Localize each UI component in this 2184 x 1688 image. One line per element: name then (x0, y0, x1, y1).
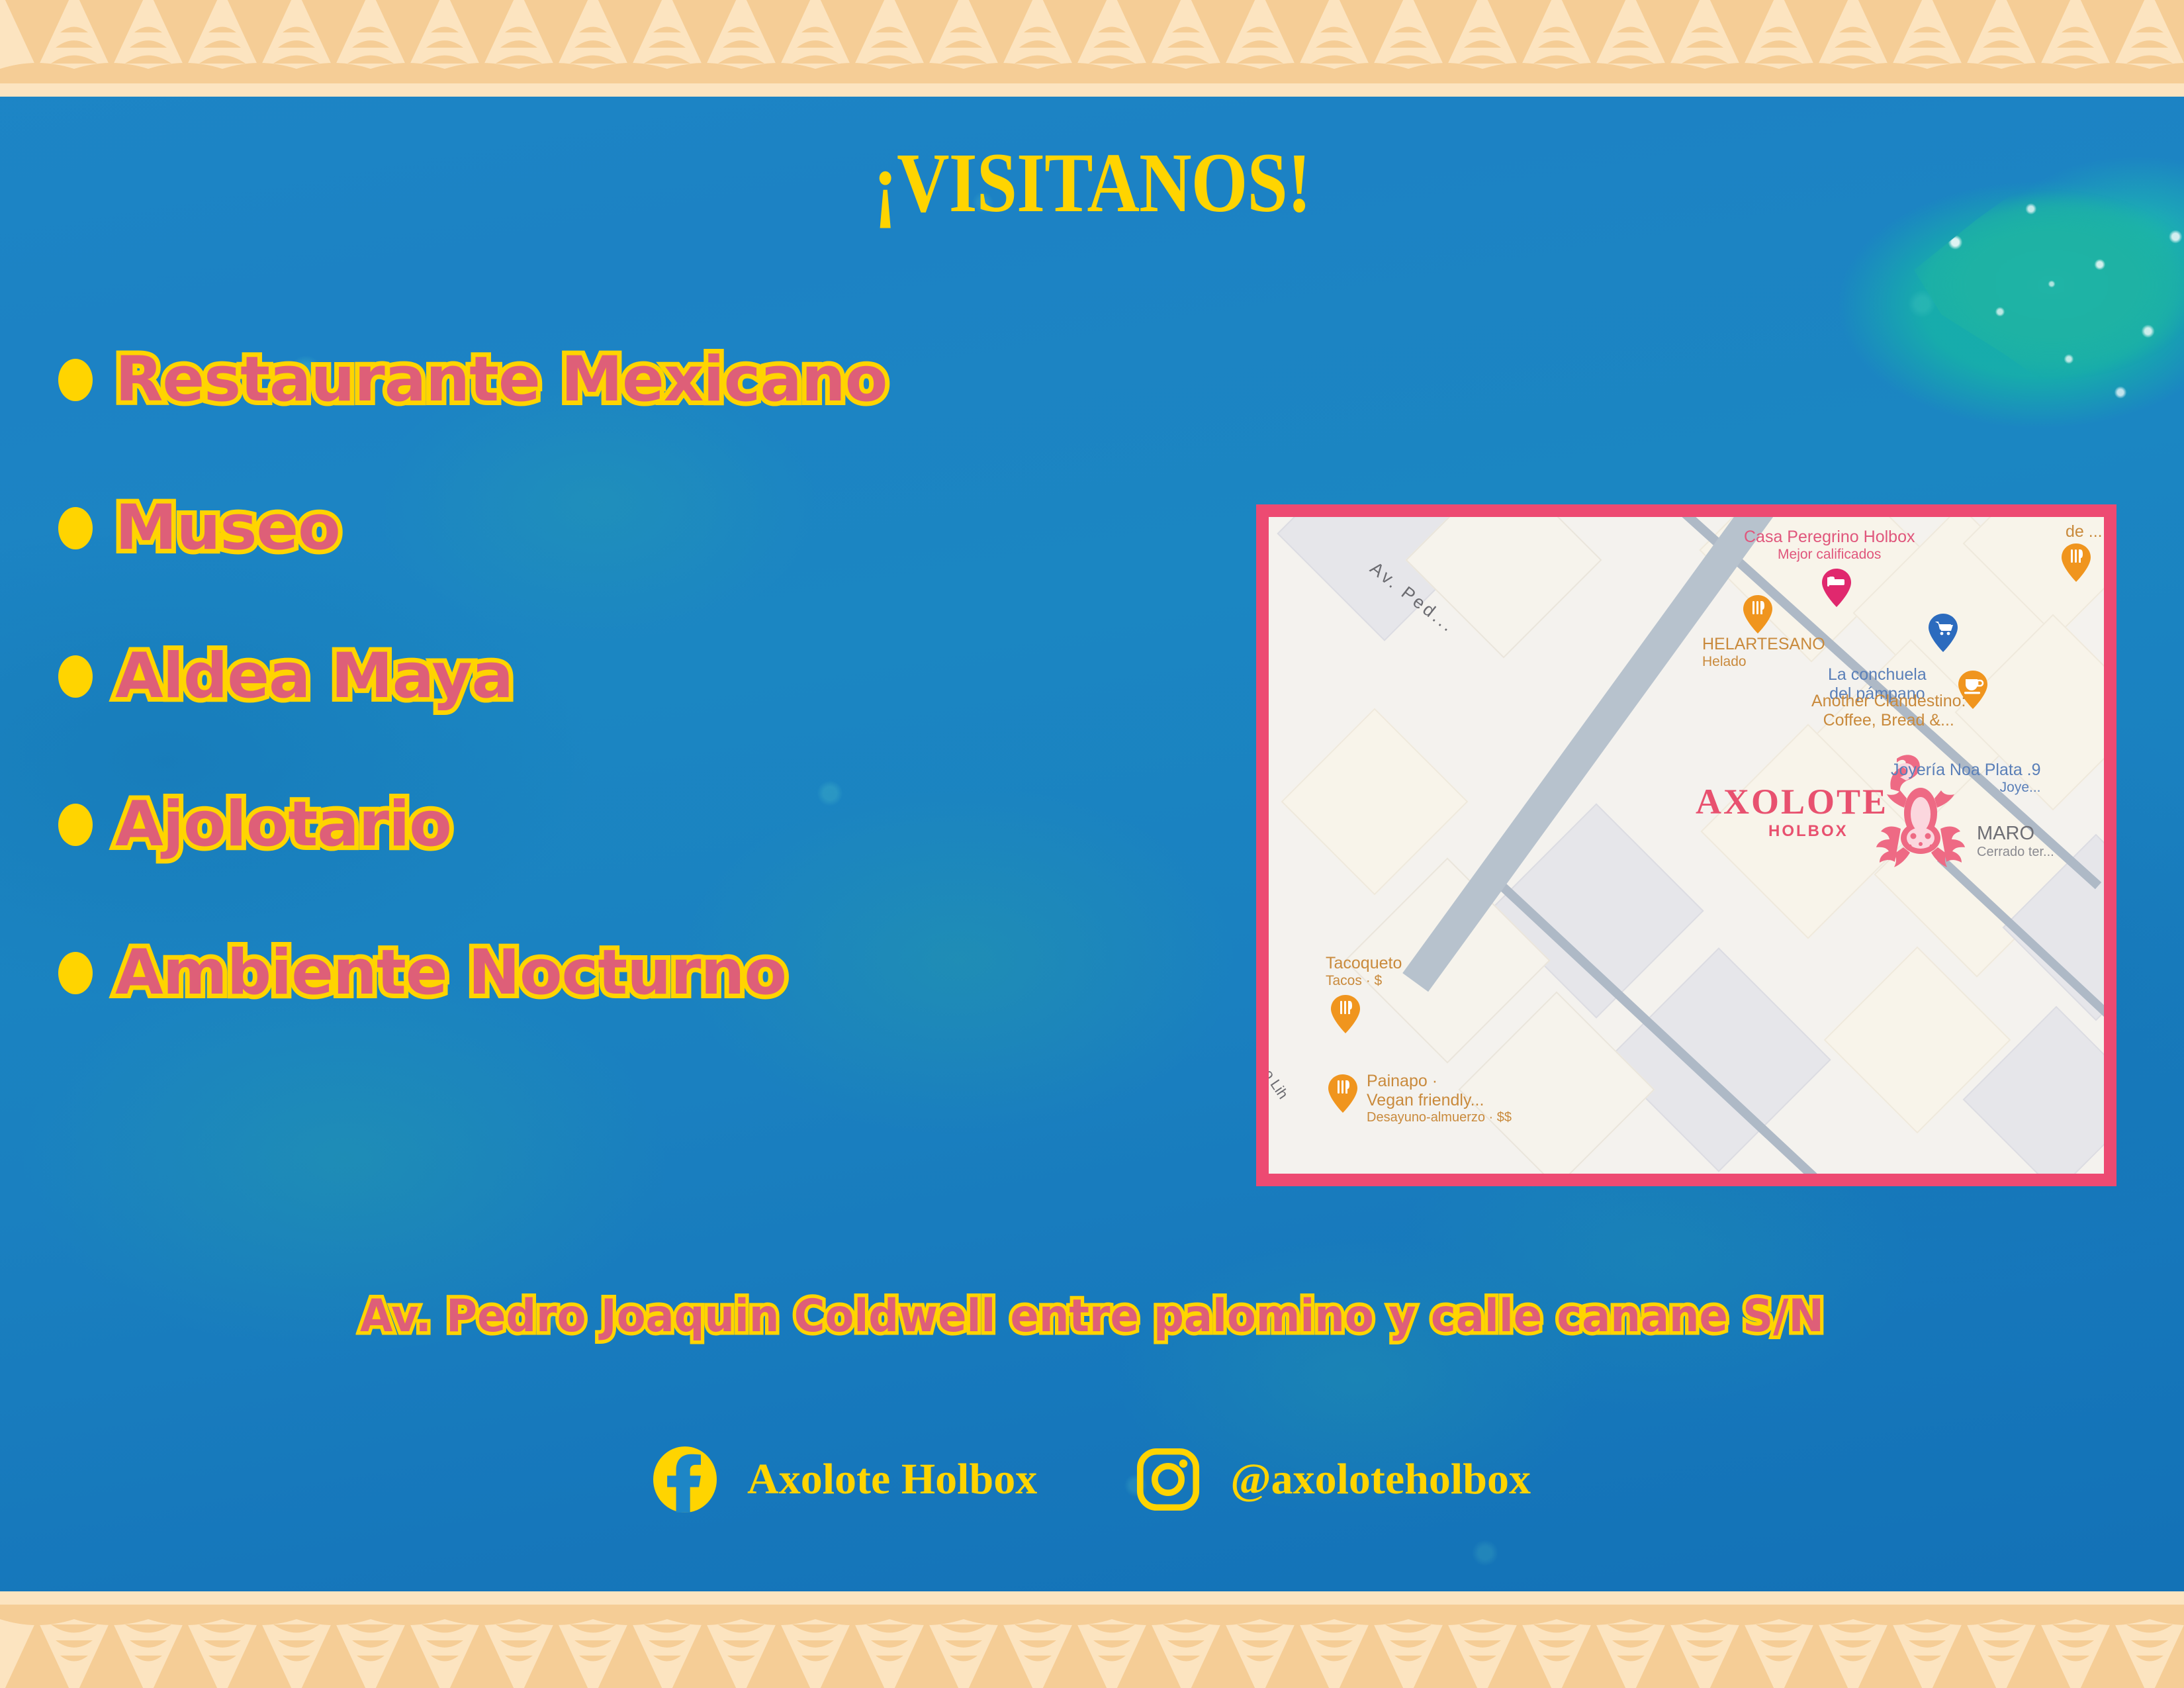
poi-name: La conchuela (1828, 665, 1927, 684)
list-item: Museo (58, 486, 1283, 571)
feature-label: Ajolotario (115, 794, 451, 856)
facebook-icon (653, 1446, 717, 1513)
address-line: Av. Pedro Joaquin Coldwell entre palomin… (66, 1294, 2118, 1339)
bullet-dot-icon (58, 952, 93, 994)
bullet-dot-icon (58, 655, 93, 698)
list-item: Ajolotario (58, 782, 1283, 867)
mayan-border-bottom (0, 1591, 2184, 1688)
list-item: Ambiente Nocturno (58, 931, 1283, 1015)
instagram-label: @axoloteholbox (1230, 1458, 1531, 1501)
poi-name: Tacoqueto (1326, 954, 1402, 972)
feature-label: Ambiente Nocturno (115, 942, 786, 1004)
poi-subtitle: Cerrado ter... (1977, 845, 2054, 860)
poi-name: MARO (1977, 823, 2034, 844)
page-title: ¡VISITANOS! (153, 140, 2031, 225)
poi-price: Desayuno-almuerzo · $$ (1367, 1110, 1512, 1125)
map-viewport[interactable]: Av. Ped... o Lih AXOLOTE HOLBOX (1269, 517, 2104, 1174)
poi-subtitle: Mejor calificados (1744, 547, 1915, 563)
instagram-icon (1136, 1446, 1200, 1513)
restaurant-pin-icon (2062, 543, 2091, 582)
poi-name: Casa Peregrino Holbox (1744, 528, 1915, 546)
location-map-card[interactable]: Av. Ped... o Lih AXOLOTE HOLBOX (1256, 504, 2116, 1186)
feature-list: Restaurante Mexicano Museo Aldea Maya Aj… (58, 338, 1283, 1079)
restaurant-pin-icon (1328, 1074, 1357, 1113)
axolote-logo-wordmark: AXOLOTE (1696, 784, 1888, 820)
poi-name: Painapo · (1367, 1072, 1437, 1090)
bullet-dot-icon (58, 359, 93, 401)
instagram-link[interactable]: @axoloteholbox (1136, 1446, 1531, 1513)
restaurant-pin-icon (1743, 595, 1772, 633)
feature-label: Restaurante Mexicano (115, 349, 887, 411)
poi-subtitle: Helado (1702, 654, 1825, 670)
poi-name: HELARTESANO (1702, 635, 1825, 653)
poi-subtitle: Vegan friendly... (1367, 1091, 1512, 1110)
facebook-link[interactable]: Axolote Holbox (653, 1446, 1037, 1513)
map-parcel (1406, 517, 1602, 658)
poi-name: Joyería Noa Plata .9 (1891, 761, 2041, 779)
axolote-logo-subtitle: HOLBOX (1768, 823, 1848, 839)
mayan-border-top (0, 0, 2184, 97)
facebook-label: Axolote Holbox (747, 1458, 1037, 1501)
list-item: Restaurante Mexicano (58, 338, 1283, 422)
poi-subtitle: Tacos · $ (1326, 973, 1402, 989)
poi-name: de ... (2066, 522, 2103, 541)
poi-subtitle: Coffee, Bread &... (1811, 711, 1966, 730)
shop-pin-icon (1929, 614, 1958, 652)
social-links-row: Axolote Holbox @axoloteholbox (0, 1446, 2184, 1513)
hotel-pin-icon (1822, 569, 1851, 607)
feature-label: Museo (115, 497, 340, 559)
poster-canvas: ¡VISITANOS! Restaurante Mexicano Museo A… (0, 0, 2184, 1688)
map-parcel (1606, 947, 1831, 1172)
list-item: Aldea Maya (58, 634, 1283, 719)
restaurant-pin-icon (1331, 995, 1360, 1033)
feature-label: Aldea Maya (115, 645, 513, 708)
bullet-dot-icon (58, 507, 93, 549)
bullet-dot-icon (58, 804, 93, 846)
poi-subtitle: Joye... (1891, 780, 2041, 796)
poi-name: Another Clandestino: (1811, 692, 1966, 710)
